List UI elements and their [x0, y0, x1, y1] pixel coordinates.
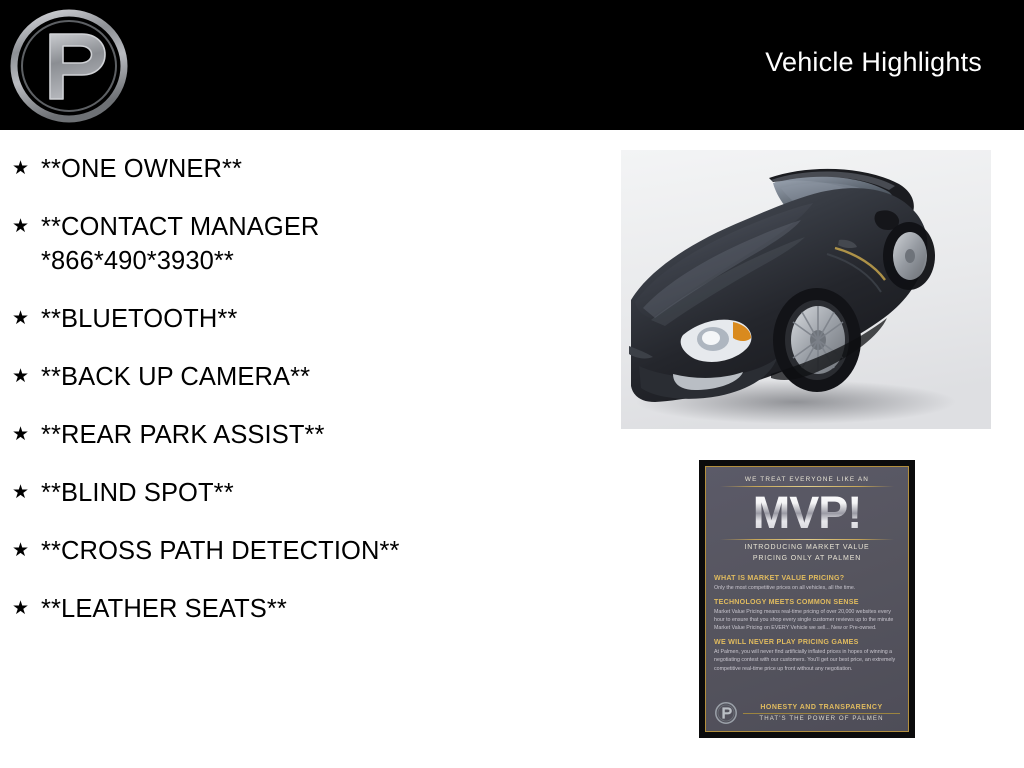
list-item-label: **BACK UP CAMERA** [41, 360, 600, 394]
poster-section-body: Market Value Pricing means real-time pri… [714, 608, 900, 633]
poster-eyebrow: WE TREAT EVERYONE LIKE AN [714, 476, 900, 483]
poster-subhead: INTRODUCING MARKET VALUE PRICING ONLY AT… [714, 543, 900, 565]
poster-section-title: WHAT IS MARKET VALUE PRICING? [714, 574, 900, 583]
poster-divider-mid [720, 539, 894, 540]
poster-footer-headline: HONESTY AND TRANSPARENCY [743, 704, 900, 711]
poster-section-body: At Palmen, you will never find artificia… [714, 648, 900, 673]
star-bullet-icon: ★ [12, 360, 41, 394]
list-item: ★ **CONTACT MANAGER *866*490*3930** [0, 210, 600, 278]
vehicle-photo[interactable] [621, 150, 991, 429]
star-bullet-icon: ★ [12, 592, 41, 626]
list-item: ★ **LEATHER SEATS** [0, 592, 600, 626]
palmen-p-circle-logo-icon [714, 701, 738, 725]
poster-footer: HONESTY AND TRANSPARENCY THAT'S THE POWE… [714, 696, 900, 725]
list-item: ★ **BACK UP CAMERA** [0, 360, 600, 394]
star-bullet-icon: ★ [12, 476, 41, 510]
poster-wordmark: MVP! [714, 491, 900, 534]
header-bar: Vehicle Highlights [0, 0, 1024, 130]
poster-footer-tagline: THAT'S THE POWER OF PALMEN [743, 713, 900, 723]
poster-section: WHAT IS MARKET VALUE PRICING? Only the m… [714, 574, 900, 593]
palmen-p-circle-logo-icon [10, 9, 128, 123]
star-bullet-icon: ★ [12, 534, 41, 568]
poster-section-title: WE WILL NEVER PLAY PRICING GAMES [714, 638, 900, 647]
list-item-label: **REAR PARK ASSIST** [41, 418, 600, 452]
poster-section: WE WILL NEVER PLAY PRICING GAMES At Palm… [714, 638, 900, 673]
poster-section-title: TECHNOLOGY MEETS COMMON SENSE [714, 598, 900, 607]
mvp-poster-panel: WE TREAT EVERYONE LIKE AN MVP! INTRODUCI… [705, 466, 909, 732]
list-item: ★ **BLIND SPOT** [0, 476, 600, 510]
poster-section: TECHNOLOGY MEETS COMMON SENSE Market Val… [714, 598, 900, 633]
list-item-label: **CROSS PATH DETECTION** [41, 534, 600, 568]
list-item-label: **BLUETOOTH** [41, 302, 600, 336]
star-bullet-icon: ★ [12, 210, 41, 244]
list-item-label: **ONE OWNER** [41, 152, 600, 186]
star-bullet-icon: ★ [12, 418, 41, 452]
list-item-label: **BLIND SPOT** [41, 476, 600, 510]
list-item: ★ **BLUETOOTH** [0, 302, 600, 336]
list-item-label: **CONTACT MANAGER *866*490*3930** [41, 210, 600, 278]
poster-footer-text: HONESTY AND TRANSPARENCY THAT'S THE POWE… [743, 704, 900, 722]
vehicle-highlights-list: ★ **ONE OWNER** ★ **CONTACT MANAGER *866… [0, 130, 600, 768]
mvp-pricing-poster[interactable]: WE TREAT EVERYONE LIKE AN MVP! INTRODUCI… [699, 460, 915, 738]
list-item: ★ **ONE OWNER** [0, 152, 600, 186]
list-item-label: **LEATHER SEATS** [41, 592, 600, 626]
star-bullet-icon: ★ [12, 302, 41, 336]
list-item: ★ **REAR PARK ASSIST** [0, 418, 600, 452]
page-title: Vehicle Highlights [765, 47, 982, 78]
star-bullet-icon: ★ [12, 152, 41, 186]
poster-section-body: Only the most competitive prices on all … [714, 584, 900, 592]
list-item: ★ **CROSS PATH DETECTION** [0, 534, 600, 568]
